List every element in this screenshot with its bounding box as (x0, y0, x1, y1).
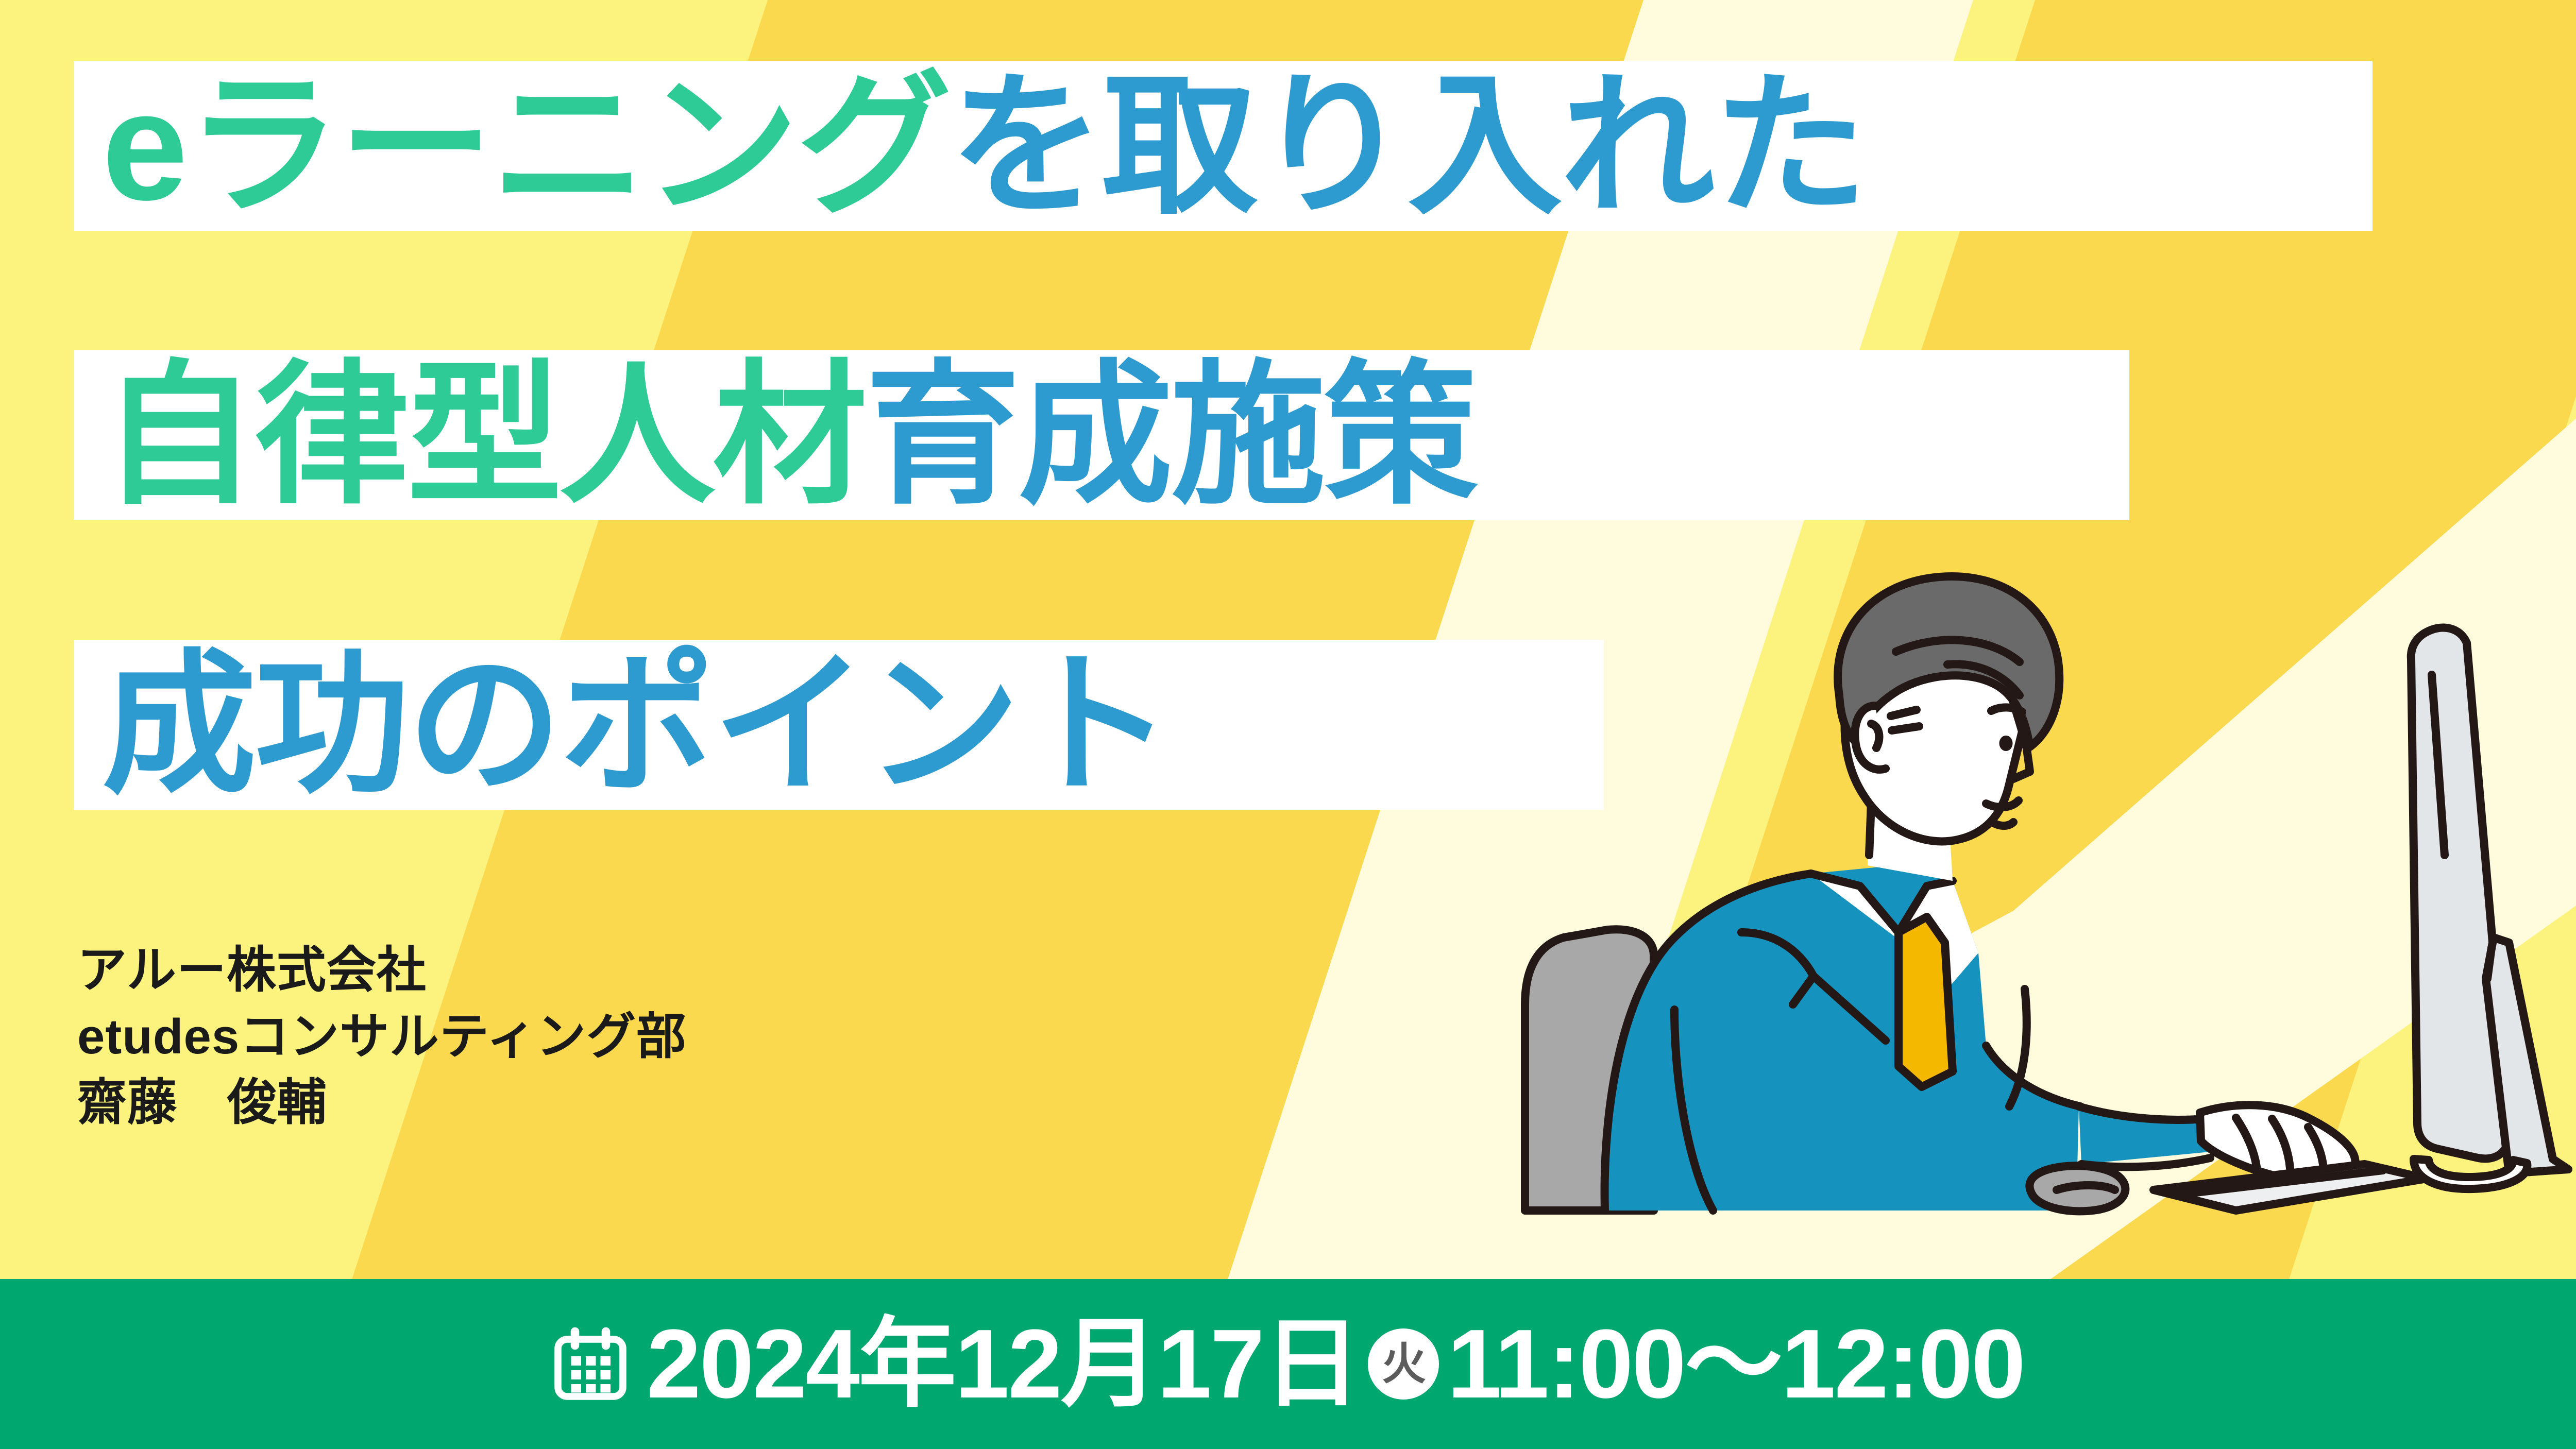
title-line-3-blue: 成功のポイント (102, 647, 1171, 802)
title-line-2: 自律型人材育成施策 (74, 350, 2129, 520)
title-line-2-green: 自律型人材 (102, 358, 866, 513)
calendar-icon (552, 1325, 629, 1403)
schedule-date: 2024年12月17日 (647, 1315, 1360, 1413)
schedule-time: 11:00〜12:00 (1447, 1315, 2024, 1413)
speaker-company: アルー株式会社 (77, 937, 686, 1004)
speaker-name: 齋藤 俊輔 (77, 1070, 686, 1136)
title-line-1-green: eラーニング (102, 69, 950, 223)
title-line-1-blue: を取り入れた (950, 69, 1866, 223)
businessman-at-desk-illustration (1432, 525, 2576, 1308)
speaker-department: etudesコンサルティング部 (77, 1004, 686, 1070)
speaker-info: アルー株式会社 etudesコンサルティング部 齋藤 俊輔 (77, 937, 686, 1136)
webinar-banner: eラーニングを取り入れた 自律型人材育成施策 成功のポイント アルー株式会社 e… (0, 0, 2576, 1449)
schedule-bar: 2024年12月17日 火 11:00〜12:00 (0, 1279, 2576, 1449)
title-line-2-blue: 育成施策 (866, 358, 1477, 513)
title-line-3: 成功のポイント (74, 640, 1604, 810)
schedule-text: 2024年12月17日 火 11:00〜12:00 (647, 1315, 2024, 1413)
day-of-week-badge: 火 (1368, 1328, 1439, 1400)
title-line-1: eラーニングを取り入れた (74, 61, 2372, 231)
